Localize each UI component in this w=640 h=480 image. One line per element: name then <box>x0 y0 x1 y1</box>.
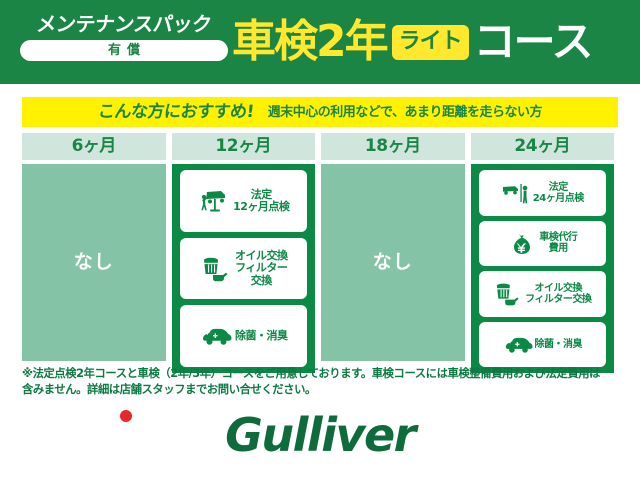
footnote: ※法定点検2年コースと車検（2年/3年）コースをご用意しております。車検コースに… <box>22 366 622 397</box>
service-item-label: オイル交換 フィルター 交換 <box>235 250 288 287</box>
service-item-line: フィルター交換 <box>525 294 591 305</box>
brand-logo: Gulliver <box>0 412 640 458</box>
table-column-12months: 12ヶ月 <box>172 133 316 373</box>
service-item-line: 除菌・消臭 <box>235 330 288 342</box>
column-header-label: 18ヶ月 <box>365 138 421 155</box>
service-item-line: オイル交換 <box>525 283 591 294</box>
car-lift-inspection-icon <box>197 188 231 214</box>
column-header: 18ヶ月 <box>321 133 465 160</box>
column-header-label: 24ヶ月 <box>514 138 570 155</box>
column-body: 法定 12ヶ月点検 <box>172 164 316 373</box>
recommendation-bar: こんな方におすすめ! 週末中心の利用などで、あまり距離を走らない方 <box>22 97 618 127</box>
service-schedule-table: 6ヶ月 なし 12ヶ月 <box>22 133 618 373</box>
column-body: 法定 24ヶ月点検 車検代行 費用 <box>471 164 615 373</box>
service-item-label: 車検代行 費用 <box>539 232 577 254</box>
course-title-main: 車検2年 <box>232 20 387 64</box>
service-item-line: フィルター <box>235 262 288 274</box>
column-body: なし <box>22 164 166 361</box>
promotional-banner: メンテナンスパック 有償 車検2年 ライト コース こんな方におすすめ! 週末中… <box>0 0 640 480</box>
service-item: 法定 24ヶ月点検 <box>479 170 607 216</box>
service-item: 車検代行 費用 <box>479 221 607 267</box>
money-bag-yen-icon <box>507 230 537 256</box>
course-title-suffix: コース <box>474 21 592 63</box>
service-item: オイル交換 フィルター交換 <box>479 271 607 317</box>
course-title-block: 車検2年 ライト コース <box>232 14 592 70</box>
oil-can-filter-icon <box>199 255 233 283</box>
none-label: なし <box>74 253 114 272</box>
service-item: 除菌・消臭 <box>479 322 607 368</box>
service-item: オイル交換 フィルター 交換 <box>180 238 308 300</box>
service-item-line: 交換 <box>235 275 288 287</box>
column-header: 24ヶ月 <box>471 133 615 160</box>
service-item-line: 車検代行 <box>539 232 577 243</box>
service-item-label: 除菌・消臭 <box>535 339 583 350</box>
recommendation-description: 週末中心の利用などで、あまり距離を走らない方 <box>268 106 542 119</box>
column-header: 12ヶ月 <box>172 133 316 160</box>
sparkle-car-icon <box>503 335 533 354</box>
maintenance-pack-label: メンテナンスパック <box>19 14 229 34</box>
brand-logo-dot <box>120 410 132 422</box>
service-item-label: 除菌・消臭 <box>235 330 288 342</box>
column-header-label: 6ヶ月 <box>72 138 116 155</box>
column-header-label: 12ヶ月 <box>215 138 271 155</box>
course-title-chip: ライト <box>392 25 469 60</box>
footnote-line-2: 含みません。詳細は店舗スタッフまでお問い合せください。 <box>22 382 622 398</box>
none-label: なし <box>373 253 413 272</box>
table-column-24months: 24ヶ月 法定 <box>471 133 615 373</box>
recommendation-heading: こんな方におすすめ! <box>97 104 255 121</box>
service-item: 法定 12ヶ月点検 <box>180 170 308 232</box>
service-item-label: オイル交換 フィルター交換 <box>525 283 591 305</box>
table-column-18months: 18ヶ月 なし <box>321 133 465 373</box>
table-column-6months: 6ヶ月 なし <box>22 133 166 373</box>
sparkle-car-icon <box>199 326 233 346</box>
maintenance-pack-block: メンテナンスパック 有償 <box>20 14 228 61</box>
service-item-line: 法定 <box>533 182 584 193</box>
car-person-inspection-icon <box>501 181 531 205</box>
footnote-line-1: ※法定点検2年コースと車検（2年/3年）コースをご用意しております。車検コースに… <box>22 366 622 382</box>
service-item-line: 12ヶ月点検 <box>233 201 289 213</box>
column-body: なし <box>321 164 465 361</box>
brand-logo-text: Gulliver <box>225 412 415 458</box>
service-item-line: 除菌・消臭 <box>535 339 583 350</box>
column-header: 6ヶ月 <box>22 133 166 160</box>
service-item-line: 費用 <box>539 243 577 254</box>
header-bar: メンテナンスパック 有償 車検2年 ライト コース <box>0 0 640 84</box>
paid-badge-label: 有償 <box>102 44 146 57</box>
paid-badge: 有償 <box>20 40 228 61</box>
oil-can-filter-icon <box>493 281 523 307</box>
service-item-label: 法定 24ヶ月点検 <box>533 182 584 204</box>
service-item-line: 24ヶ月点検 <box>533 193 584 204</box>
service-item-line: 法定 <box>233 189 289 201</box>
service-item: 除菌・消臭 <box>180 305 308 367</box>
service-item-label: 法定 12ヶ月点検 <box>233 189 289 214</box>
